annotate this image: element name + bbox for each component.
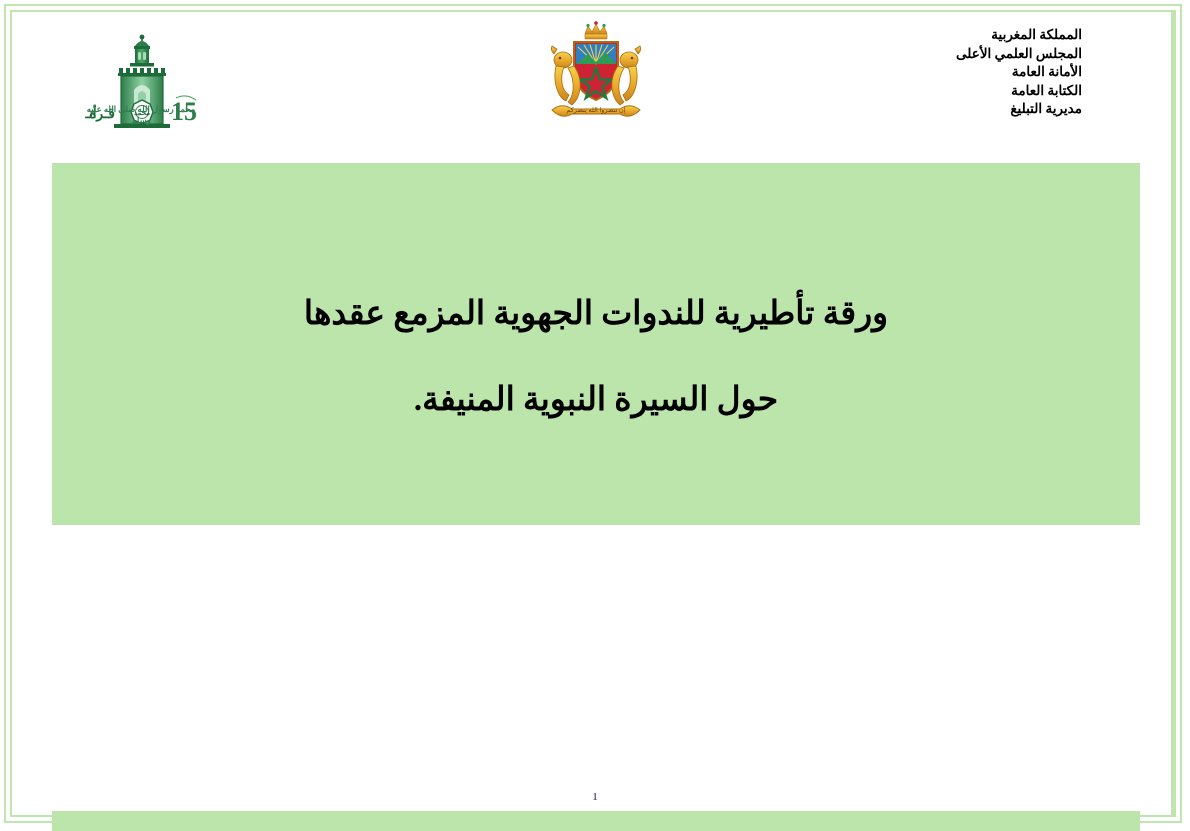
- page-number: 1: [0, 791, 1190, 803]
- ministry-line-secretariat: الأمانة العامة: [782, 63, 1082, 82]
- ministry-line-general-office: الكتابة العامة: [782, 82, 1082, 101]
- title-panel: ورقة تأطيرية للندوات الجهوية المزمع عقده…: [52, 163, 1140, 525]
- title-line-2: حول السيرة النبوية المنيفة.: [52, 357, 1140, 443]
- title-line-1: ورقة تأطيرية للندوات الجهوية المزمع عقده…: [52, 271, 1140, 357]
- ministry-line-council: المجلس العلمي الأعلى: [782, 45, 1082, 64]
- ministry-designation-block: المملكة المغربية المجلس العلمي الأعلى ال…: [782, 26, 1082, 119]
- document-header: محمد قـرة أنـ 15 محمد رسول الله صلى الله…: [0, 0, 1190, 150]
- morocco-coat-of-arms-icon: إن تنصروا الله ينصركم: [533, 18, 659, 138]
- ministry-line-kingdom: المملكة المغربية: [782, 26, 1082, 45]
- document-title: ورقة تأطيرية للندوات الجهوية المزمع عقده…: [52, 271, 1140, 443]
- svg-text:إن تنصروا الله ينصركم: إن تنصروا الله ينصركم: [566, 106, 625, 114]
- footer-green-band: [52, 811, 1140, 831]
- council-logo-caption: محمد رسول الله صلى الله عليه وسلم: [78, 104, 204, 125]
- ministry-line-directorate: مديرية التبليغ: [782, 100, 1082, 119]
